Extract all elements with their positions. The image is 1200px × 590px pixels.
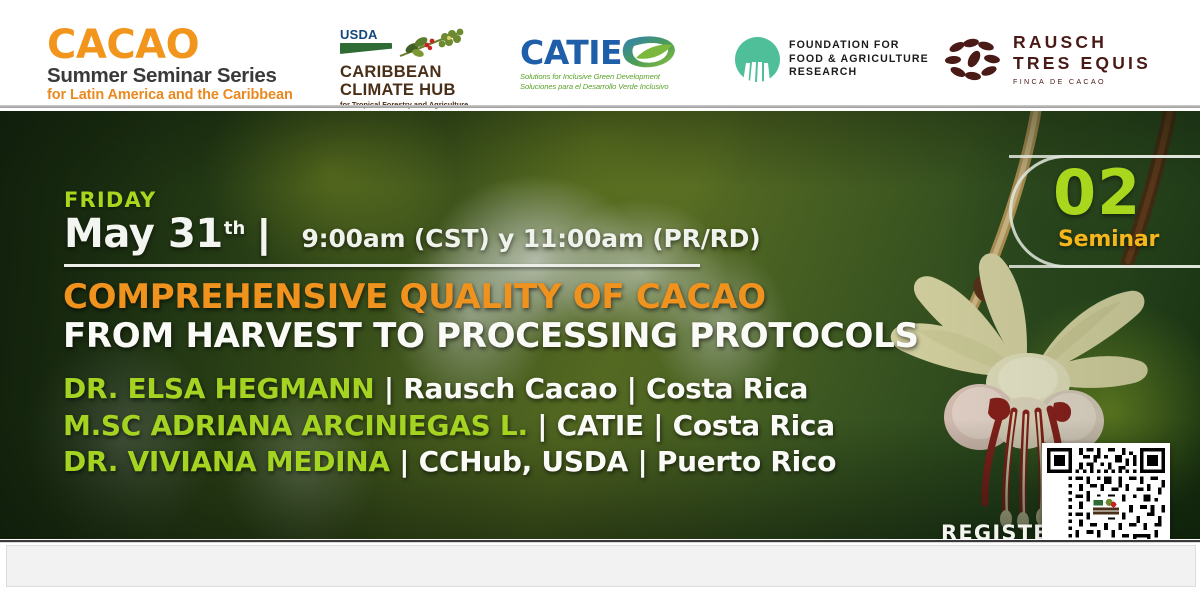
footer-bar — [0, 539, 1200, 590]
catie-leaf-swoosh-icon — [620, 34, 680, 72]
seminar-title-line2: FROM HARVEST TO PROCESSING PROTOCOLS — [63, 317, 919, 355]
cacao-subtitle: Summer Seminar Series — [47, 64, 297, 87]
speaker-row: M.SC ADRIANA ARCINIEGAS L. | CATIE | Cos… — [63, 408, 836, 445]
speaker-country: Puerto Rico — [657, 445, 836, 478]
event-time: 9:00am (CST) y 11:00am (PR/RD) — [301, 224, 760, 253]
ffar-line1: FOUNDATION FOR — [789, 39, 929, 53]
catie-wordmark: CATIE — [520, 36, 622, 69]
speaker-separator: | — [644, 409, 673, 442]
ffar-line3: RESEARCH — [789, 66, 929, 80]
footer-top-rule — [0, 539, 1200, 543]
ffar-line2: FOOD & AGRICULTURE — [789, 53, 929, 67]
cacao-wordmark: CACAO — [47, 26, 297, 64]
speaker-separator: | — [628, 445, 657, 478]
logo-cacao-summer-seminar-series: CACAO Summer Seminar Series for Latin Am… — [47, 26, 297, 104]
speaker-org: CATIE — [557, 409, 644, 442]
date-time-separator: | — [258, 212, 269, 256]
logo-usda-caribbean-climate-hub: USDA — [340, 28, 470, 110]
usda-green-hill-icon — [340, 43, 392, 54]
speaker-country: Costa Rica — [646, 372, 808, 405]
speaker-row: DR. VIVIANA MEDINA | CCHub, USDA | Puert… — [63, 444, 836, 481]
speaker-row: DR. ELSA HEGMANN | Rausch Cacao | Costa … — [63, 371, 836, 408]
speaker-separator: | — [390, 445, 419, 478]
catie-tagline-en: Solutions for Inclusive Green Developmen… — [520, 72, 695, 82]
logo-rausch-tres-equis: RAUSCH TRES EQUIS FINCA DE CACAO — [945, 32, 1151, 88]
speaker-org: Rausch Cacao — [403, 372, 617, 405]
logo-catie: CATIE Solutions for Inclusive Green Deve… — [520, 32, 695, 92]
usda-hub-line1: CARIBBEAN — [340, 63, 470, 81]
rausch-line2: TRES EQUIS — [1013, 53, 1151, 74]
speaker-separator: | — [374, 372, 403, 405]
title-divider — [64, 264, 700, 267]
seminar-flyer: CACAO Summer Seminar Series for Latin Am… — [0, 0, 1200, 590]
footer-panel — [6, 545, 1196, 587]
event-weekday: FRIDAY — [64, 189, 760, 211]
usda-shield-icon: USDA — [340, 28, 392, 54]
rausch-wordmark: RAUSCH TRES EQUIS FINCA DE CACAO — [1013, 32, 1151, 88]
cacao-region-line: for Latin America and the Caribbean — [47, 87, 297, 104]
speaker-country: Costa Rica — [673, 409, 835, 442]
usda-mark-row: USDA — [340, 28, 470, 60]
sponsor-logo-bar: CACAO Summer Seminar Series for Latin Am… — [0, 0, 1200, 108]
speaker-list: DR. ELSA HEGMANN | Rausch Cacao | Costa … — [63, 371, 836, 481]
speaker-name: DR. ELSA HEGMANN — [63, 372, 374, 405]
speaker-org: CCHub, USDA — [419, 445, 628, 478]
ffar-tree-icon — [735, 37, 780, 82]
cacao-bean-cluster-icon — [945, 37, 1003, 83]
ffar-wordmark: FOUNDATION FOR FOOD & AGRICULTURE RESEAR… — [789, 39, 929, 80]
logo-foundation-food-agriculture-research: FOUNDATION FOR FOOD & AGRICULTURE RESEAR… — [735, 37, 929, 82]
cacao-branch-icon — [396, 28, 466, 60]
usda-hub-tagline: for Tropical Forestry and Agriculture — [340, 100, 470, 110]
seminar-number: 02 — [1053, 162, 1141, 224]
speaker-separator: | — [528, 409, 557, 442]
catie-mark-row: CATIE — [520, 32, 695, 72]
speaker-name: DR. VIVIANA MEDINA — [63, 445, 390, 478]
speaker-separator: | — [617, 372, 646, 405]
rausch-line1: RAUSCH — [1013, 32, 1151, 53]
event-date-block: FRIDAY May 31th | 9:00am (CST) y 11:00am… — [64, 189, 760, 256]
event-date-row: May 31th | 9:00am (CST) y 11:00am (PR/RD… — [64, 212, 760, 256]
usda-hub-line2: CLIMATE HUB — [340, 81, 470, 99]
rausch-line3: FINCA DE CACAO — [1013, 76, 1151, 88]
event-date-suffix: th — [224, 218, 245, 239]
usda-agency-label: USDA — [340, 28, 392, 41]
seminar-number-label: Seminar — [1058, 228, 1159, 252]
event-date: May 31 — [64, 212, 223, 256]
badge-bottom-rule — [1009, 265, 1200, 268]
speaker-name: M.SC ADRIANA ARCINIEGAS L. — [63, 409, 528, 442]
catie-tagline-es: Soluciones para el Desarrollo Verde Incl… — [520, 82, 695, 92]
seminar-title-line1: COMPREHENSIVE QUALITY OF CACAO — [63, 278, 766, 316]
